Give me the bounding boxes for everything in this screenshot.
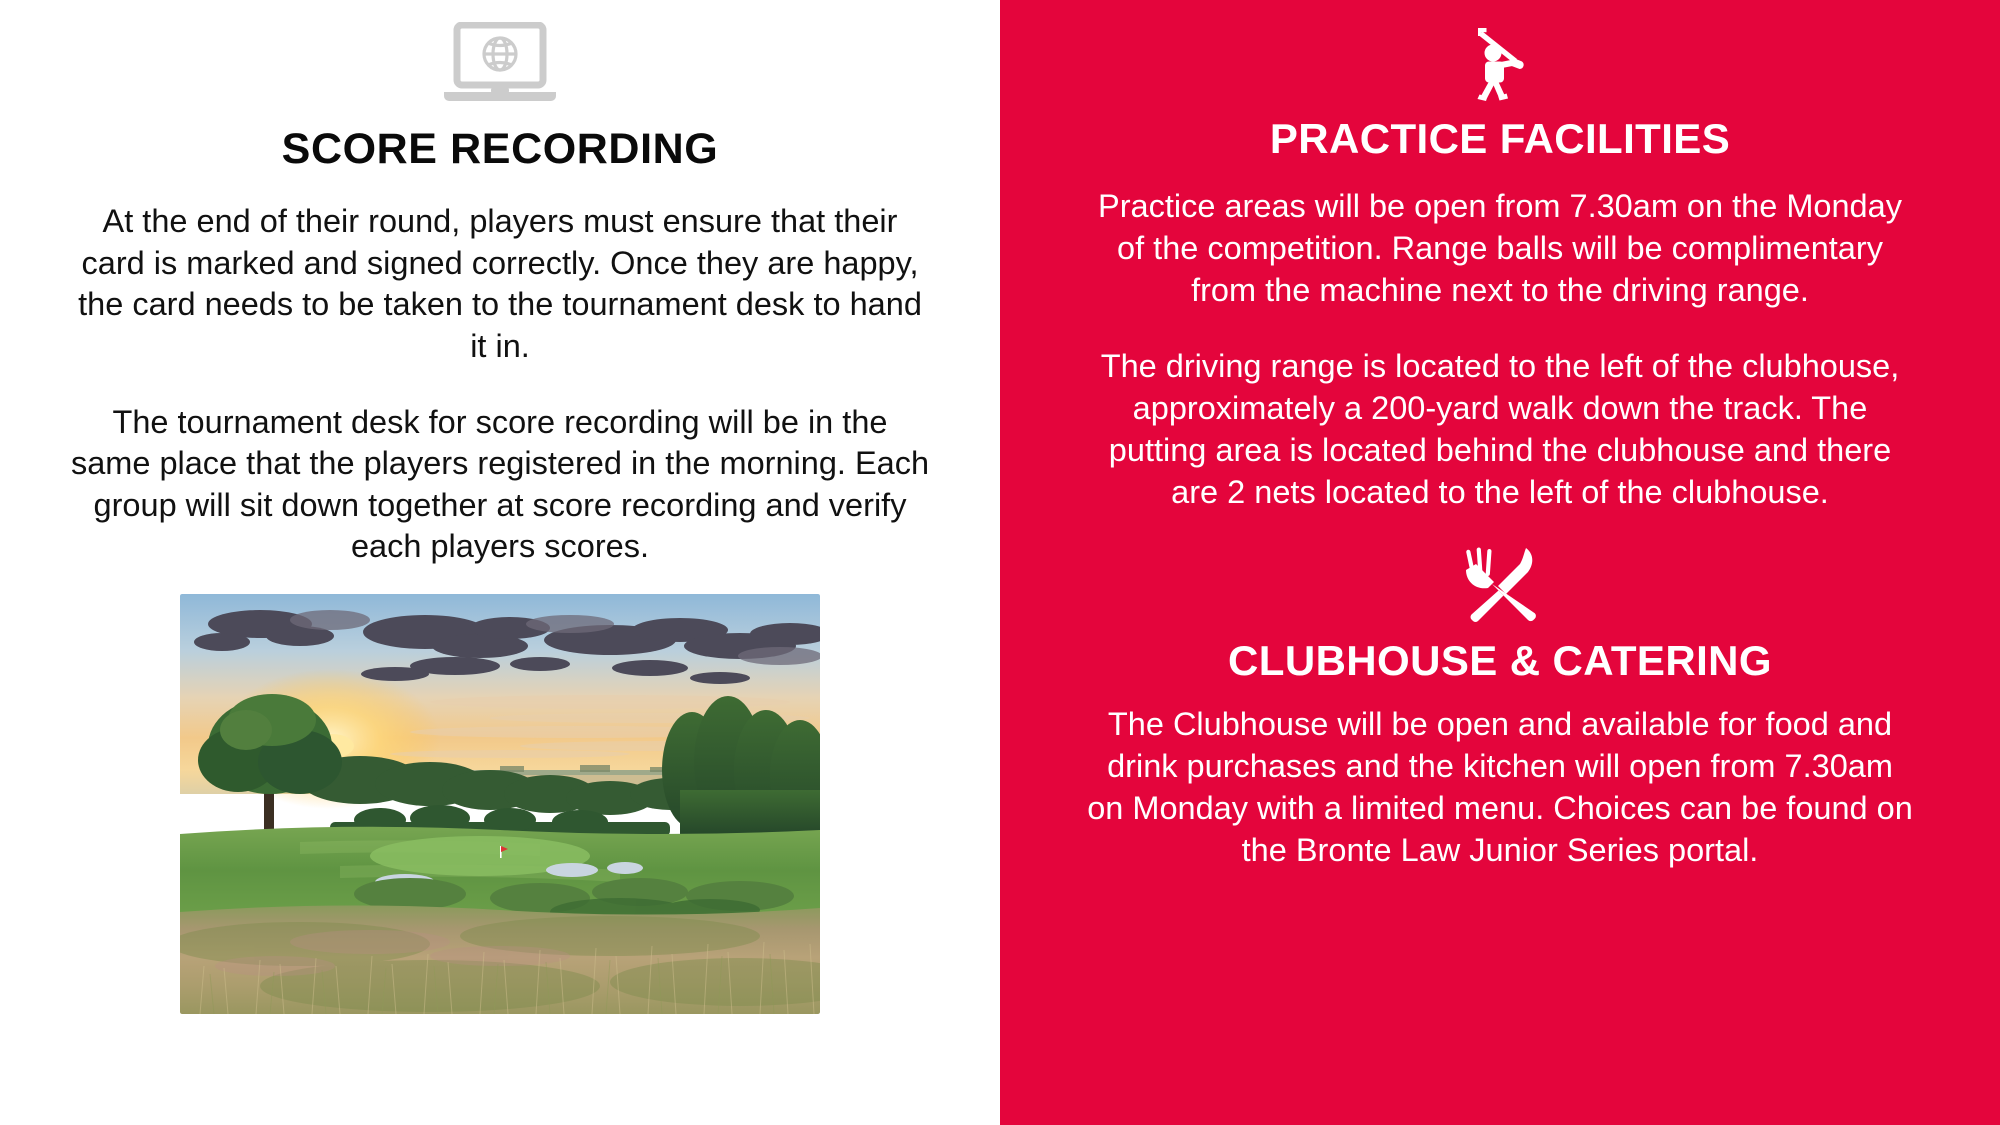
golf-course-sunset-photo [180,594,820,1014]
golfer-swing-icon [1465,24,1535,102]
clubhouse-catering-body: The Clubhouse will be open and available… [1085,704,1915,872]
practice-facilities-body: Practice areas will be open from 7.30am … [1085,186,1915,513]
right-panel: PRACTICE FACILITIES Practice areas will … [1000,0,2000,1125]
section-title-clubhouse-catering: CLUBHOUSE & CATERING [1228,638,1772,684]
paragraph-score-recording-1: At the end of their round, players must … [70,201,930,367]
paragraph-clubhouse-1: The Clubhouse will be open and available… [1085,704,1915,872]
slide-root: SCORE RECORDING At the end of their roun… [0,0,2000,1125]
golf-course-photo-frame [180,594,820,1014]
page-title-score-recording: SCORE RECORDING [282,126,719,173]
paragraph-practice-1: Practice areas will be open from 7.30am … [1085,186,1915,312]
score-recording-body: At the end of their round, players must … [70,201,930,568]
paragraph-score-recording-2: The tournament desk for score recording … [70,402,930,568]
section-title-practice-facilities: PRACTICE FACILITIES [1270,116,1730,162]
paragraph-practice-2: The driving range is located to the left… [1085,346,1915,514]
fork-knife-icon [1454,544,1546,624]
laptop-globe-icon [436,22,564,104]
left-panel: SCORE RECORDING At the end of their roun… [0,0,1000,1125]
